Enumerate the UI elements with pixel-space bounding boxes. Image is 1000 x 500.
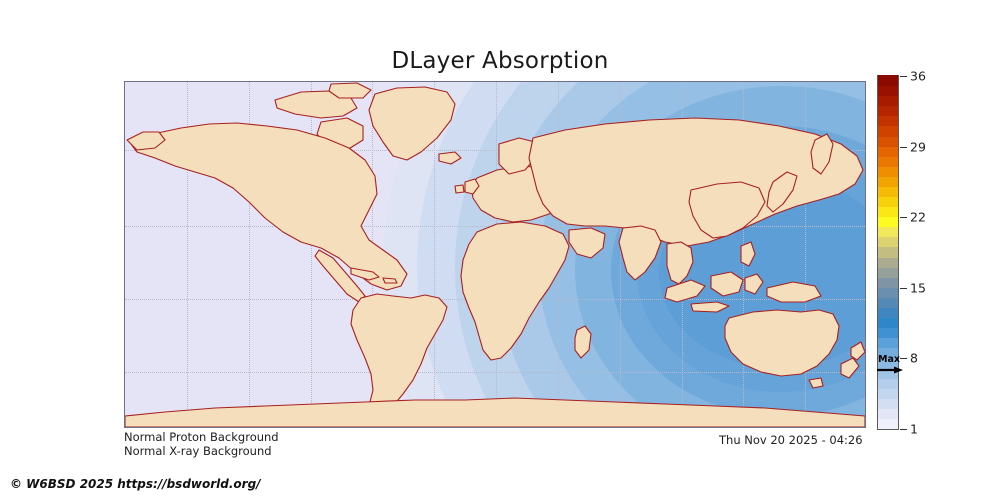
colorbar-tick	[900, 217, 907, 218]
map-clip	[125, 82, 865, 427]
colorbar-tick	[900, 288, 907, 289]
colorbar-band	[878, 418, 898, 429]
timestamp-label: Thu Nov 20 2025 - 04:26	[719, 433, 863, 447]
landmass-greenland	[369, 87, 455, 160]
colorbar-tick-label: 1	[910, 422, 918, 437]
colorbar-band	[878, 166, 898, 177]
colorbar-band	[878, 267, 898, 278]
colorbar[interactable]	[877, 75, 899, 430]
colorbar-tick	[900, 429, 907, 430]
colorbar-band	[878, 227, 898, 238]
colorbar-band	[878, 327, 898, 338]
colorbar-band	[878, 388, 898, 399]
landmass-southeast-asia	[667, 242, 693, 284]
colorbar-band	[878, 408, 898, 419]
landmass-ellesmere	[329, 83, 371, 98]
colorbar-gradient	[877, 75, 899, 430]
colorbar-band	[878, 85, 898, 96]
colorbar-band	[878, 247, 898, 258]
colorbar-band	[878, 378, 898, 389]
colorbar-band	[878, 398, 898, 409]
colorbar-band	[878, 176, 898, 187]
colorbar-band	[878, 338, 898, 349]
colorbar-tick-label: 8	[910, 351, 918, 366]
colorbar-band	[878, 217, 898, 228]
landmass-eurasia	[529, 118, 863, 246]
landmass-tasmania	[809, 378, 823, 388]
landmass-arabia	[569, 228, 605, 258]
landmass-north-america	[131, 123, 407, 290]
landmass-sumatra	[665, 280, 705, 302]
landmass-philippines	[741, 242, 755, 266]
colorbar-tick	[900, 147, 907, 148]
colorbar-band	[878, 95, 898, 106]
colorbar-band	[878, 186, 898, 197]
landmass-east-asia	[689, 182, 765, 238]
colorbar-axis-label: Affected Frequency (MHz)	[922, 75, 1000, 430]
landmass-new-zealand-south	[841, 358, 859, 378]
page-title: DLayer Absorption	[0, 48, 1000, 74]
colorbar-tick	[900, 76, 907, 77]
landmass-africa	[461, 222, 569, 360]
colorbar-band	[878, 297, 898, 308]
landmass-australia	[725, 310, 839, 376]
colorbar-band	[878, 277, 898, 288]
colorbar-band	[878, 116, 898, 127]
colorbar-band	[878, 126, 898, 137]
colorbar-band	[878, 156, 898, 167]
coastline-layer	[125, 82, 865, 427]
colorbar-band	[878, 136, 898, 147]
colorbar-band	[878, 206, 898, 217]
max-arrow-icon	[877, 366, 903, 374]
colorbar-band	[878, 257, 898, 268]
max-marker-label: Max	[878, 354, 900, 365]
landmass-iceland	[439, 152, 461, 164]
colorbar-band	[878, 146, 898, 157]
landmass-antarctica	[125, 398, 865, 427]
colorbar-band	[878, 75, 898, 86]
colorbar-band	[878, 307, 898, 318]
colorbar-band	[878, 106, 898, 117]
proton-background-status: Normal Proton Background	[124, 430, 279, 444]
landmass-new-zealand-north	[851, 342, 865, 360]
landmass-hispaniola	[383, 278, 397, 283]
colorbar-band	[878, 196, 898, 207]
landmass-madagascar	[575, 326, 591, 358]
landmass-java	[691, 302, 729, 312]
colorbar-max-marker: Max	[877, 355, 903, 375]
landmass-borneo	[711, 272, 743, 296]
colorbar-band	[878, 287, 898, 298]
landmass-new-guinea	[767, 282, 821, 302]
xray-background-status: Normal X-ray Background	[124, 444, 272, 458]
colorbar-band	[878, 317, 898, 328]
landmass-sulawesi	[745, 274, 763, 294]
world-map-panel[interactable]	[124, 81, 866, 428]
copyright-notice: © W6BSD 2025 https://bsdworld.org/	[10, 477, 261, 491]
colorbar-band	[878, 237, 898, 248]
landmass-india	[619, 226, 661, 280]
landmass-ireland	[455, 185, 464, 193]
